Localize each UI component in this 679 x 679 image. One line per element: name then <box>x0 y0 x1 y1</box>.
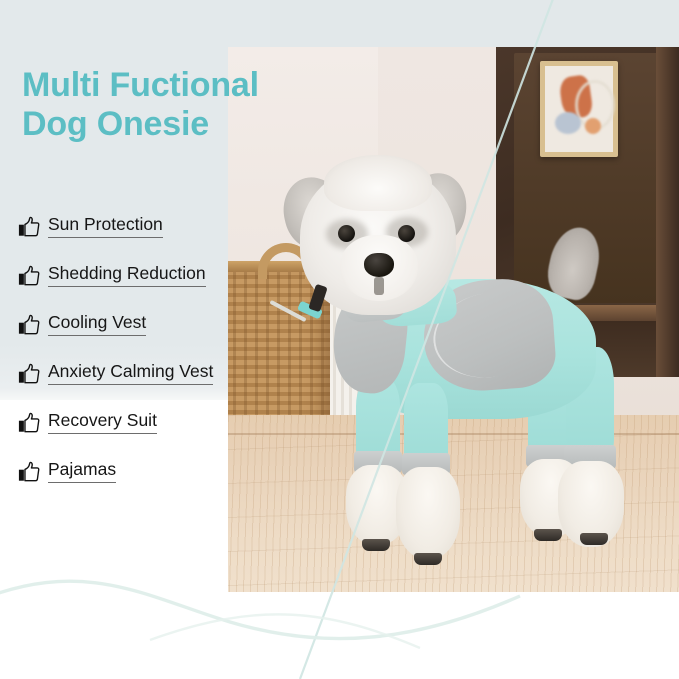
feature-item-cooling-vest: Cooling Vest <box>18 312 278 361</box>
thumbs-up-icon <box>18 265 40 287</box>
page-title-line-1: Multi Fuctional <box>22 66 362 105</box>
feature-label: Anxiety Calming Vest <box>48 361 213 385</box>
feature-list: Sun Protection Shedding Reduction Coolin… <box>18 214 278 508</box>
feature-item-shedding-reduction: Shedding Reduction <box>18 263 278 312</box>
dog-eye-right <box>398 225 415 242</box>
feature-label: Sun Protection <box>48 214 163 238</box>
feature-label: Recovery Suit <box>48 410 157 434</box>
thumbs-up-icon <box>18 363 40 385</box>
thumbs-up-icon <box>18 314 40 336</box>
product-infographic: Multi Fuctional Dog Onesie Sun Protectio… <box>0 0 679 679</box>
feature-label: Pajamas <box>48 459 116 483</box>
dog-nose <box>364 253 394 277</box>
feature-item-anxiety-calming-vest: Anxiety Calming Vest <box>18 361 278 410</box>
thumbs-up-icon <box>18 461 40 483</box>
thumbs-up-icon <box>18 412 40 434</box>
feature-label: Cooling Vest <box>48 312 146 336</box>
page-title: Multi Fuctional Dog Onesie <box>22 66 362 144</box>
dog-eye-left <box>338 225 355 242</box>
thumbs-up-icon <box>18 216 40 238</box>
feature-item-pajamas: Pajamas <box>18 459 278 508</box>
dog-claw-front-right <box>414 553 442 565</box>
dog-claw-front-left <box>362 539 390 551</box>
dog-paw-fur-front-right <box>396 467 460 559</box>
feature-item-sun-protection: Sun Protection <box>18 214 278 263</box>
feature-label: Shedding Reduction <box>48 263 206 287</box>
page-title-line-2: Dog Onesie <box>22 105 362 144</box>
feature-item-recovery-suit: Recovery Suit <box>18 410 278 459</box>
dog-head-fur <box>324 155 432 211</box>
dog-claw-back-right <box>580 533 608 545</box>
dog-mouth <box>374 277 384 295</box>
dog-claw-back-left <box>534 529 562 541</box>
